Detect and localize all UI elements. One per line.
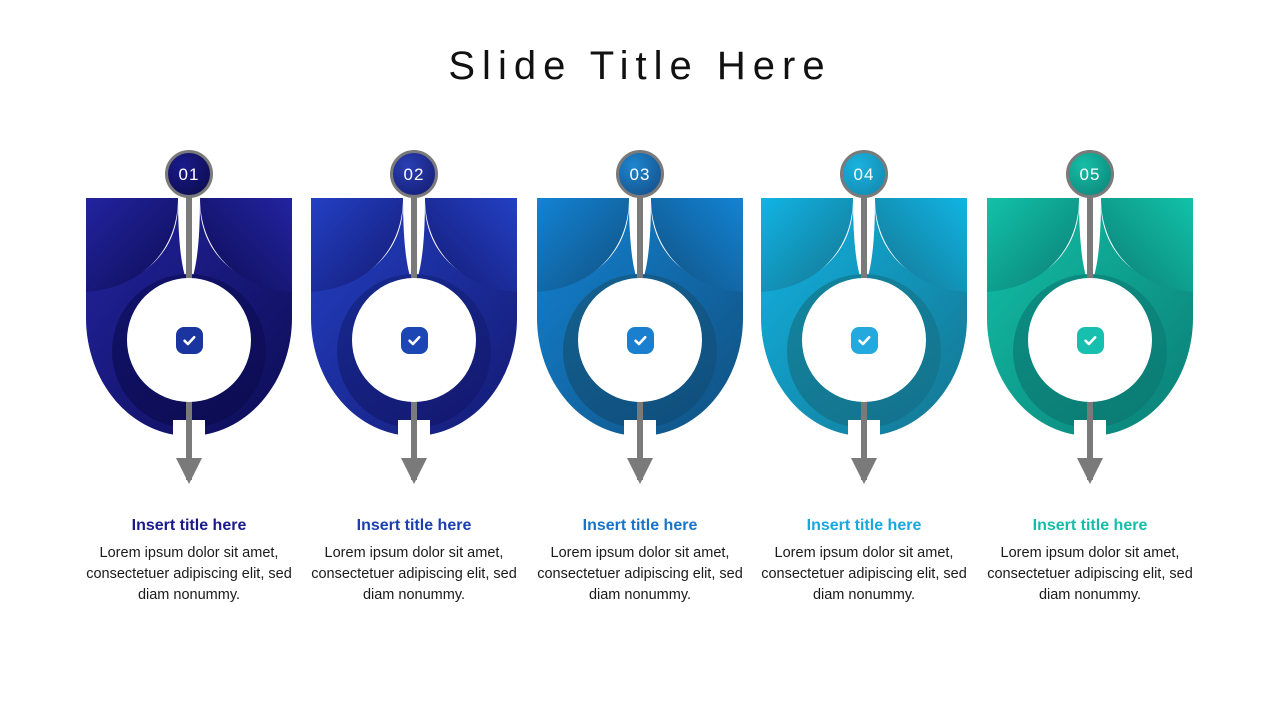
- hub-circle: [578, 278, 702, 402]
- caption-title: Insert title here: [977, 516, 1203, 535]
- caption-block: Insert title here Lorem ipsum dolor sit …: [977, 516, 1203, 606]
- step-badge-number: 02: [404, 166, 425, 183]
- hub-circle: [802, 278, 926, 402]
- hub-circle: [127, 278, 251, 402]
- arrow-head-icon: [176, 458, 202, 484]
- step-badge-number: 01: [179, 166, 200, 183]
- step-badge-04[interactable]: 04: [840, 150, 888, 198]
- check-icon: [851, 327, 878, 354]
- caption-block: Insert title here Lorem ipsum dolor sit …: [527, 516, 753, 606]
- caption-body: Lorem ipsum dolor sit amet, consectetuer…: [301, 543, 527, 606]
- hub-circle: [352, 278, 476, 402]
- step-badge-01[interactable]: 01: [165, 150, 213, 198]
- page-title: Slide Title Here: [0, 44, 1280, 89]
- caption-title: Insert title here: [301, 516, 527, 535]
- caption-body: Lorem ipsum dolor sit amet, consectetuer…: [527, 543, 753, 606]
- caption-body: Lorem ipsum dolor sit amet, consectetuer…: [751, 543, 977, 606]
- caption-body: Lorem ipsum dolor sit amet, consectetuer…: [977, 543, 1203, 606]
- step-badge-05[interactable]: 05: [1066, 150, 1114, 198]
- caption-title: Insert title here: [76, 516, 302, 535]
- arrow-head-icon: [627, 458, 653, 484]
- slide-canvas: Slide Title Here: [0, 0, 1280, 720]
- arrow-head-icon: [1077, 458, 1103, 484]
- arrow-head-icon: [401, 458, 427, 484]
- check-icon: [1077, 327, 1104, 354]
- check-icon: [176, 327, 203, 354]
- arrow-head-icon: [851, 458, 877, 484]
- step-badge-number: 03: [630, 166, 651, 183]
- step-badge-number: 04: [854, 166, 875, 183]
- step-badge-03[interactable]: 03: [616, 150, 664, 198]
- caption-title: Insert title here: [527, 516, 753, 535]
- step-badge-number: 05: [1080, 166, 1101, 183]
- check-icon: [627, 327, 654, 354]
- caption-body: Lorem ipsum dolor sit amet, consectetuer…: [76, 543, 302, 606]
- step-badge-02[interactable]: 02: [390, 150, 438, 198]
- caption-title: Insert title here: [751, 516, 977, 535]
- caption-block: Insert title here Lorem ipsum dolor sit …: [76, 516, 302, 606]
- check-icon: [401, 327, 428, 354]
- caption-block: Insert title here Lorem ipsum dolor sit …: [751, 516, 977, 606]
- hub-circle: [1028, 278, 1152, 402]
- caption-block: Insert title here Lorem ipsum dolor sit …: [301, 516, 527, 606]
